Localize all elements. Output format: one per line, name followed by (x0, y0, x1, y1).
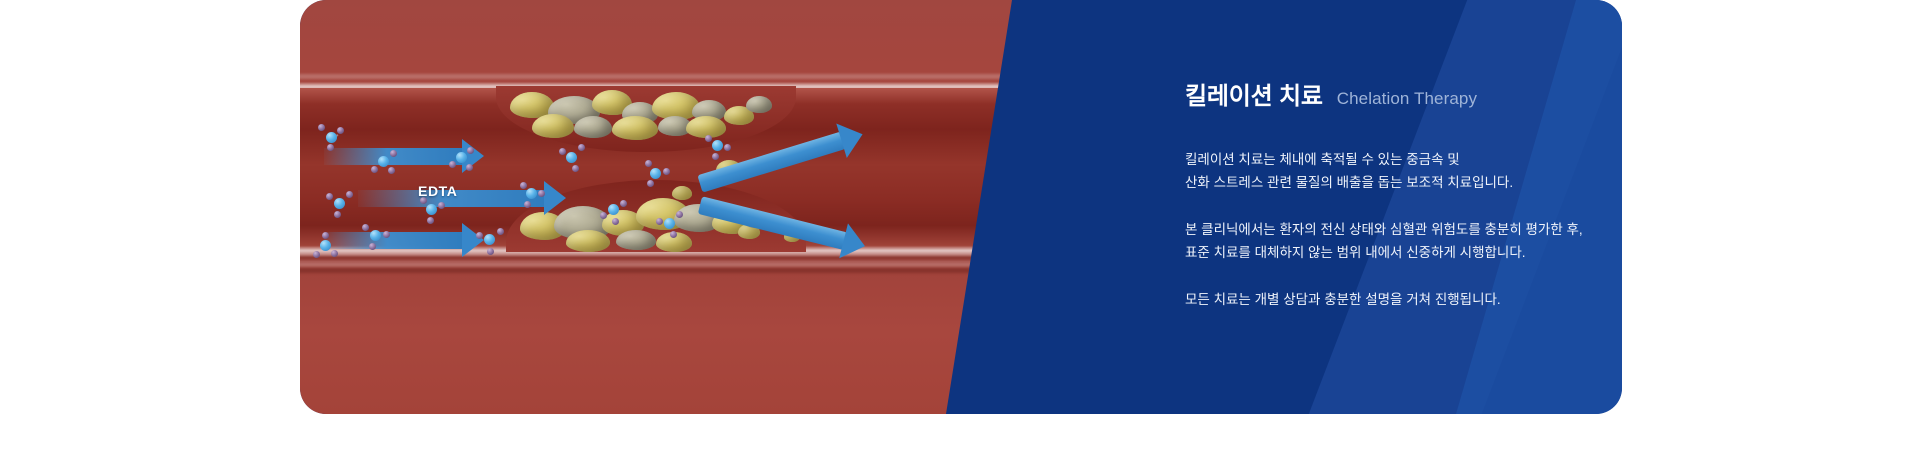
vessel-illustration: EDTA (300, 0, 1040, 414)
paragraph: 모든 치료는 개별 상담과 충분한 설명을 거쳐 진행됩니다. (1185, 288, 1615, 311)
paragraph-line: 모든 치료는 개별 상담과 충분한 설명을 거쳐 진행됩니다. (1185, 288, 1615, 311)
paragraph-line: 킬레이션 치료는 체내에 축적될 수 있는 중금속 및 (1185, 148, 1615, 171)
vessel-outer-edge-top (300, 74, 1040, 79)
plaque-fragment (672, 186, 692, 200)
paragraph: 본 클리닉에서는 환자의 전신 상태와 심혈관 위험도를 충분히 평가한 후, … (1185, 218, 1615, 264)
paragraph-line: 산화 스트레스 관련 물질의 배출을 돕는 보조적 치료입니다. (1185, 171, 1615, 194)
panel-title-row: 킬레이션 치료 Chelation Therapy (1185, 76, 1477, 111)
paragraph: 킬레이션 치료는 체내에 축적될 수 있는 중금속 및 산화 스트레스 관련 물… (1185, 148, 1615, 194)
flow-arrow-left-bottom (324, 232, 464, 249)
paragraph-line: 표준 치료를 대체하지 않는 범위 내에서 신중하게 시행합니다. (1185, 241, 1615, 264)
paragraph-line: 본 클리닉에서는 환자의 전신 상태와 심혈관 위험도를 충분히 평가한 후, (1185, 218, 1615, 241)
vessel-outer-edge-bottom-2 (300, 268, 1040, 273)
panel-body: 킬레이션 치료는 체내에 축적될 수 있는 중금속 및 산화 스트레스 관련 물… (1185, 148, 1615, 311)
edta-label: EDTA (418, 183, 457, 199)
vessel-outer-edge-bottom (300, 262, 1040, 267)
chelation-therapy-banner: EDTA (300, 0, 1622, 414)
page-subtitle: Chelation Therapy (1337, 89, 1477, 109)
page-title: 킬레이션 치료 (1185, 76, 1323, 111)
panel-content: 킬레이션 치료 Chelation Therapy 킬레이션 치료는 체내에 축… (1185, 0, 1615, 414)
